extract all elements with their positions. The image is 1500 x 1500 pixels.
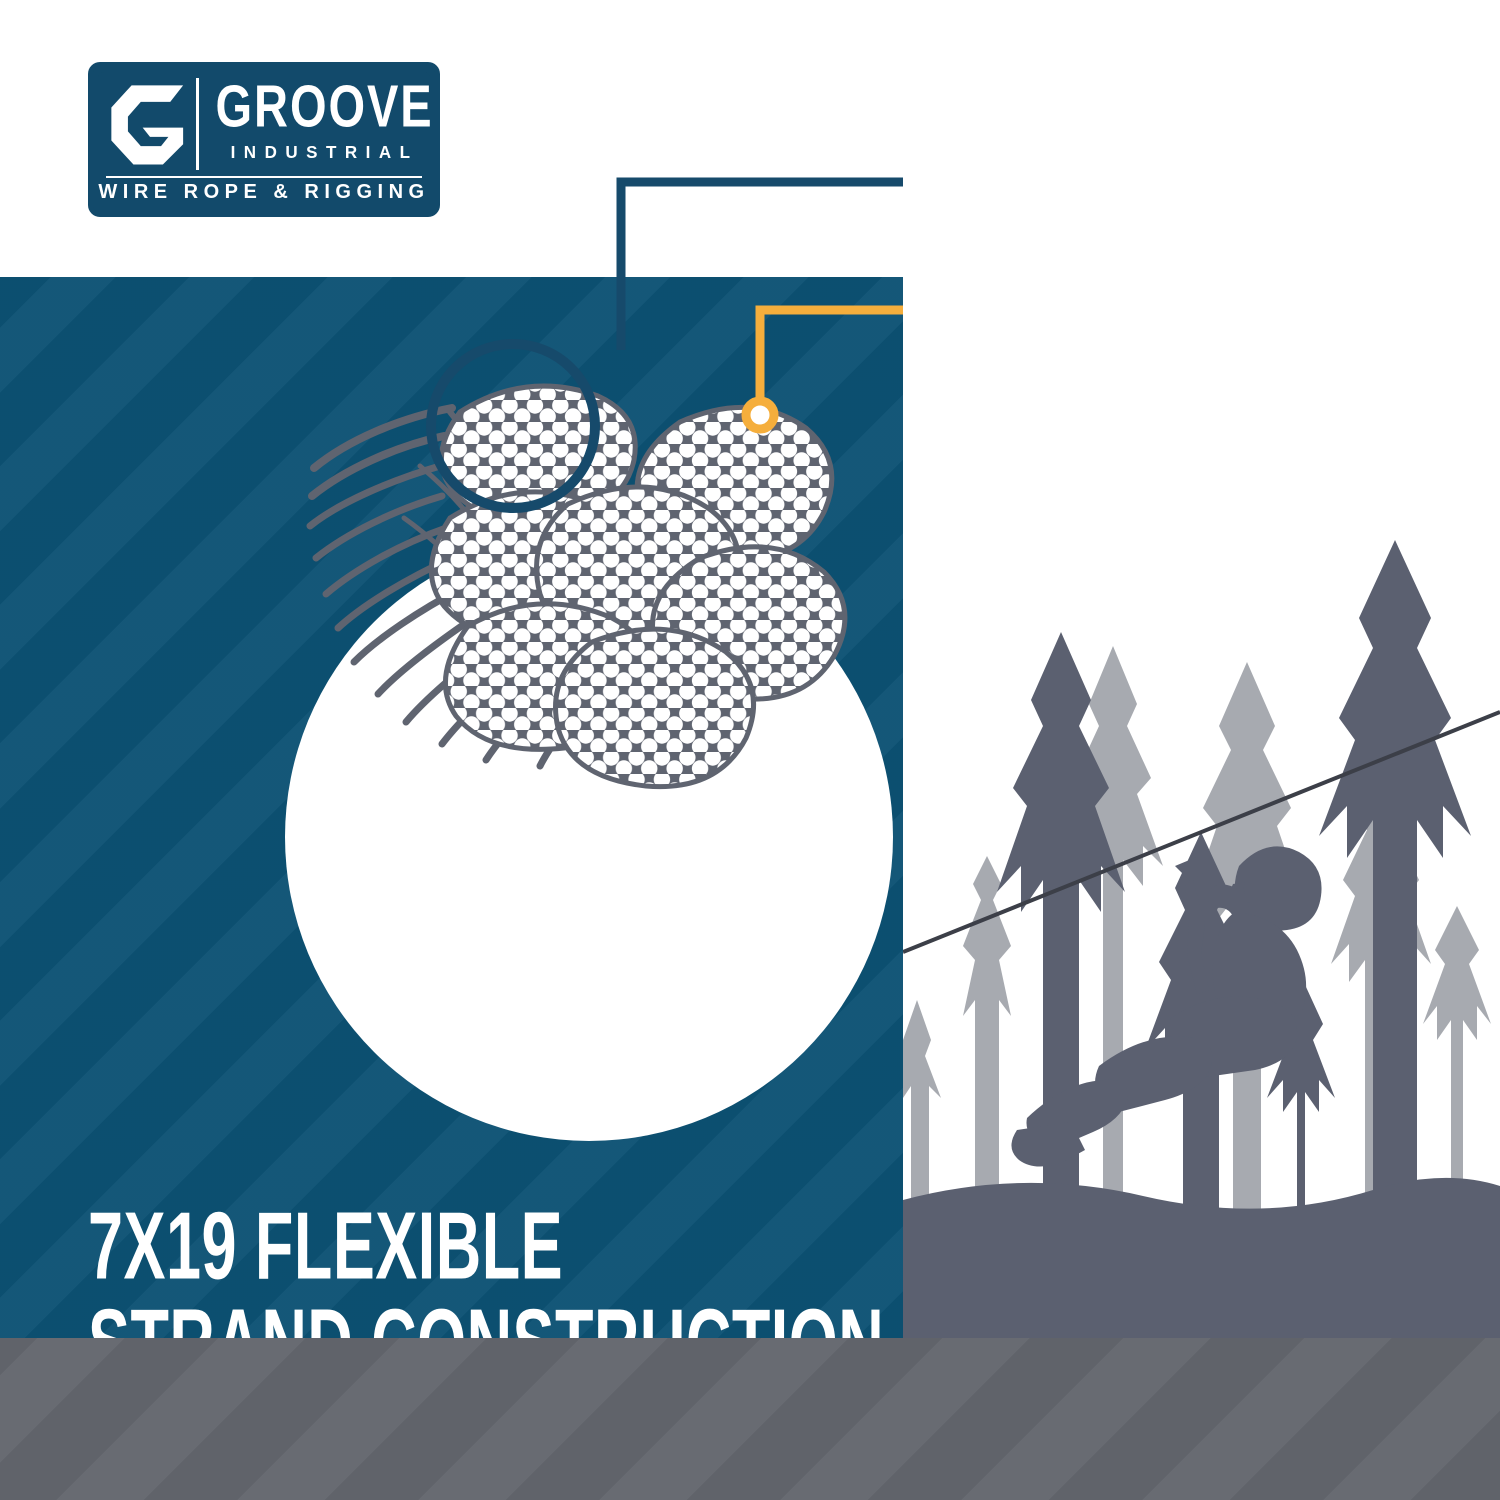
- band-stripe-texture: [0, 1338, 1500, 1500]
- wire-rope-illustration: [300, 290, 870, 820]
- brand-logo: GROOVE INDUSTRIAL WIRE ROPE & RIGGING: [88, 62, 440, 217]
- zipline-scene: [903, 0, 1500, 1338]
- logo-wordmark: GROOVE INDUSTRIAL: [199, 78, 438, 170]
- headline-line-1: 7X19 FLEXIBLE: [88, 1199, 812, 1294]
- groove-g-monogram-icon: [104, 78, 199, 170]
- logo-frame: GROOVE INDUSTRIAL WIRE ROPE & RIGGING: [88, 62, 440, 217]
- bottom-gray-band: [0, 1338, 1500, 1500]
- logo-name-primary: GROOVE: [216, 80, 434, 135]
- logo-top-row: GROOVE INDUSTRIAL: [98, 72, 430, 176]
- headline-block: 7X19 FLEXIBLE STRAND CONSTRUCTION: [88, 1199, 858, 1338]
- logo-inner-panel: GROOVE INDUSTRIAL WIRE ROPE & RIGGING: [98, 72, 430, 207]
- infographic-page: GROOVE INDUSTRIAL WIRE ROPE & RIGGING 7X…: [0, 0, 1500, 1500]
- logo-tagline: WIRE ROPE & RIGGING: [98, 181, 429, 204]
- logo-tagline-bar: WIRE ROPE & RIGGING: [98, 178, 430, 207]
- logo-name-secondary: INDUSTRIAL: [231, 142, 419, 163]
- headline-line-2: STRAND CONSTRUCTION: [88, 1296, 812, 1338]
